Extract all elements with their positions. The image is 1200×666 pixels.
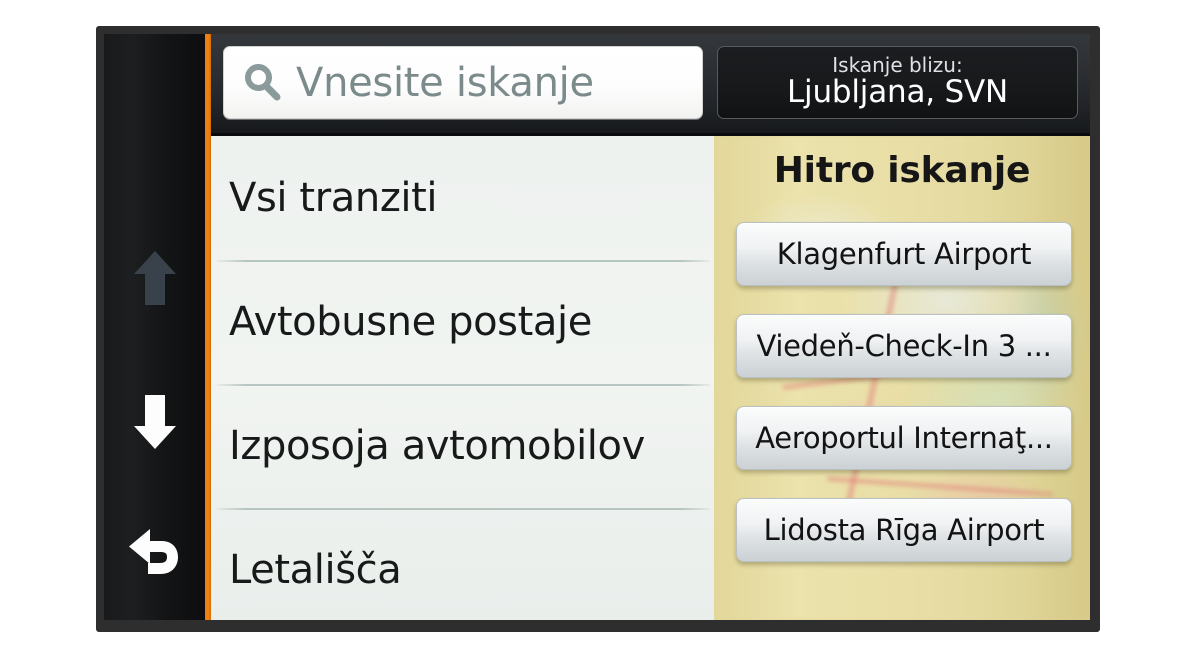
- list-item[interactable]: Avtobusne postaje: [211, 260, 714, 384]
- quick-search-button[interactable]: Lidosta Rīga Airport: [736, 498, 1072, 562]
- header-bar: Vnesite iskanje Iskanje blizu: Ljubljana…: [211, 34, 1090, 136]
- list-item-label: Vsi tranziti: [229, 175, 437, 221]
- arrow-down-icon: [132, 393, 178, 451]
- arrow-up-icon: [132, 249, 178, 307]
- quick-search-title: Hitro iskanje: [714, 150, 1090, 191]
- list-item[interactable]: Izposoja avtomobilov: [211, 384, 714, 508]
- search-input[interactable]: Vnesite iskanje: [223, 46, 703, 119]
- scroll-down-button[interactable]: [104, 374, 205, 470]
- device-frame: Vnesite iskanje Iskanje blizu: Ljubljana…: [96, 26, 1100, 632]
- quick-search-button[interactable]: Klagenfurt Airport: [736, 222, 1072, 286]
- list-item[interactable]: Vsi tranziti: [211, 136, 714, 260]
- search-placeholder: Vnesite iskanje: [296, 60, 594, 106]
- quick-search-button-label: Klagenfurt Airport: [777, 237, 1031, 271]
- search-icon: [242, 62, 282, 106]
- quick-search-button[interactable]: Aeroportul Internaţ...: [736, 406, 1072, 470]
- back-arrow-icon: [126, 525, 184, 579]
- search-near-label: Iskanje blizu:: [832, 55, 962, 76]
- sidebar: [104, 34, 205, 620]
- list-item-label: Avtobusne postaje: [229, 299, 592, 345]
- gps-screen: Vnesite iskanje Iskanje blizu: Ljubljana…: [104, 34, 1090, 620]
- quick-search-button-label: Aeroportul Internaţ...: [755, 421, 1052, 455]
- scroll-up-button[interactable]: [104, 230, 205, 326]
- list-item-label: Izposoja avtomobilov: [229, 423, 645, 469]
- back-button[interactable]: [104, 504, 205, 600]
- quick-search-button-label: Lidosta Rīga Airport: [764, 513, 1045, 547]
- search-near-value: Ljubljana, SVN: [787, 76, 1008, 109]
- quick-search-button[interactable]: Viedeň-Check-In 3 ...: [736, 314, 1072, 378]
- quick-search-button-label: Viedeň-Check-In 3 ...: [756, 329, 1051, 363]
- quick-search-panel: Hitro iskanje Klagenfurt Airport Viedeň-…: [714, 136, 1090, 620]
- category-list: Vsi tranziti Avtobusne postaje Izposoja …: [211, 136, 714, 620]
- list-item-label: Letališča: [229, 547, 401, 593]
- search-near-button[interactable]: Iskanje blizu: Ljubljana, SVN: [717, 46, 1078, 119]
- list-item[interactable]: Letališča: [211, 508, 714, 620]
